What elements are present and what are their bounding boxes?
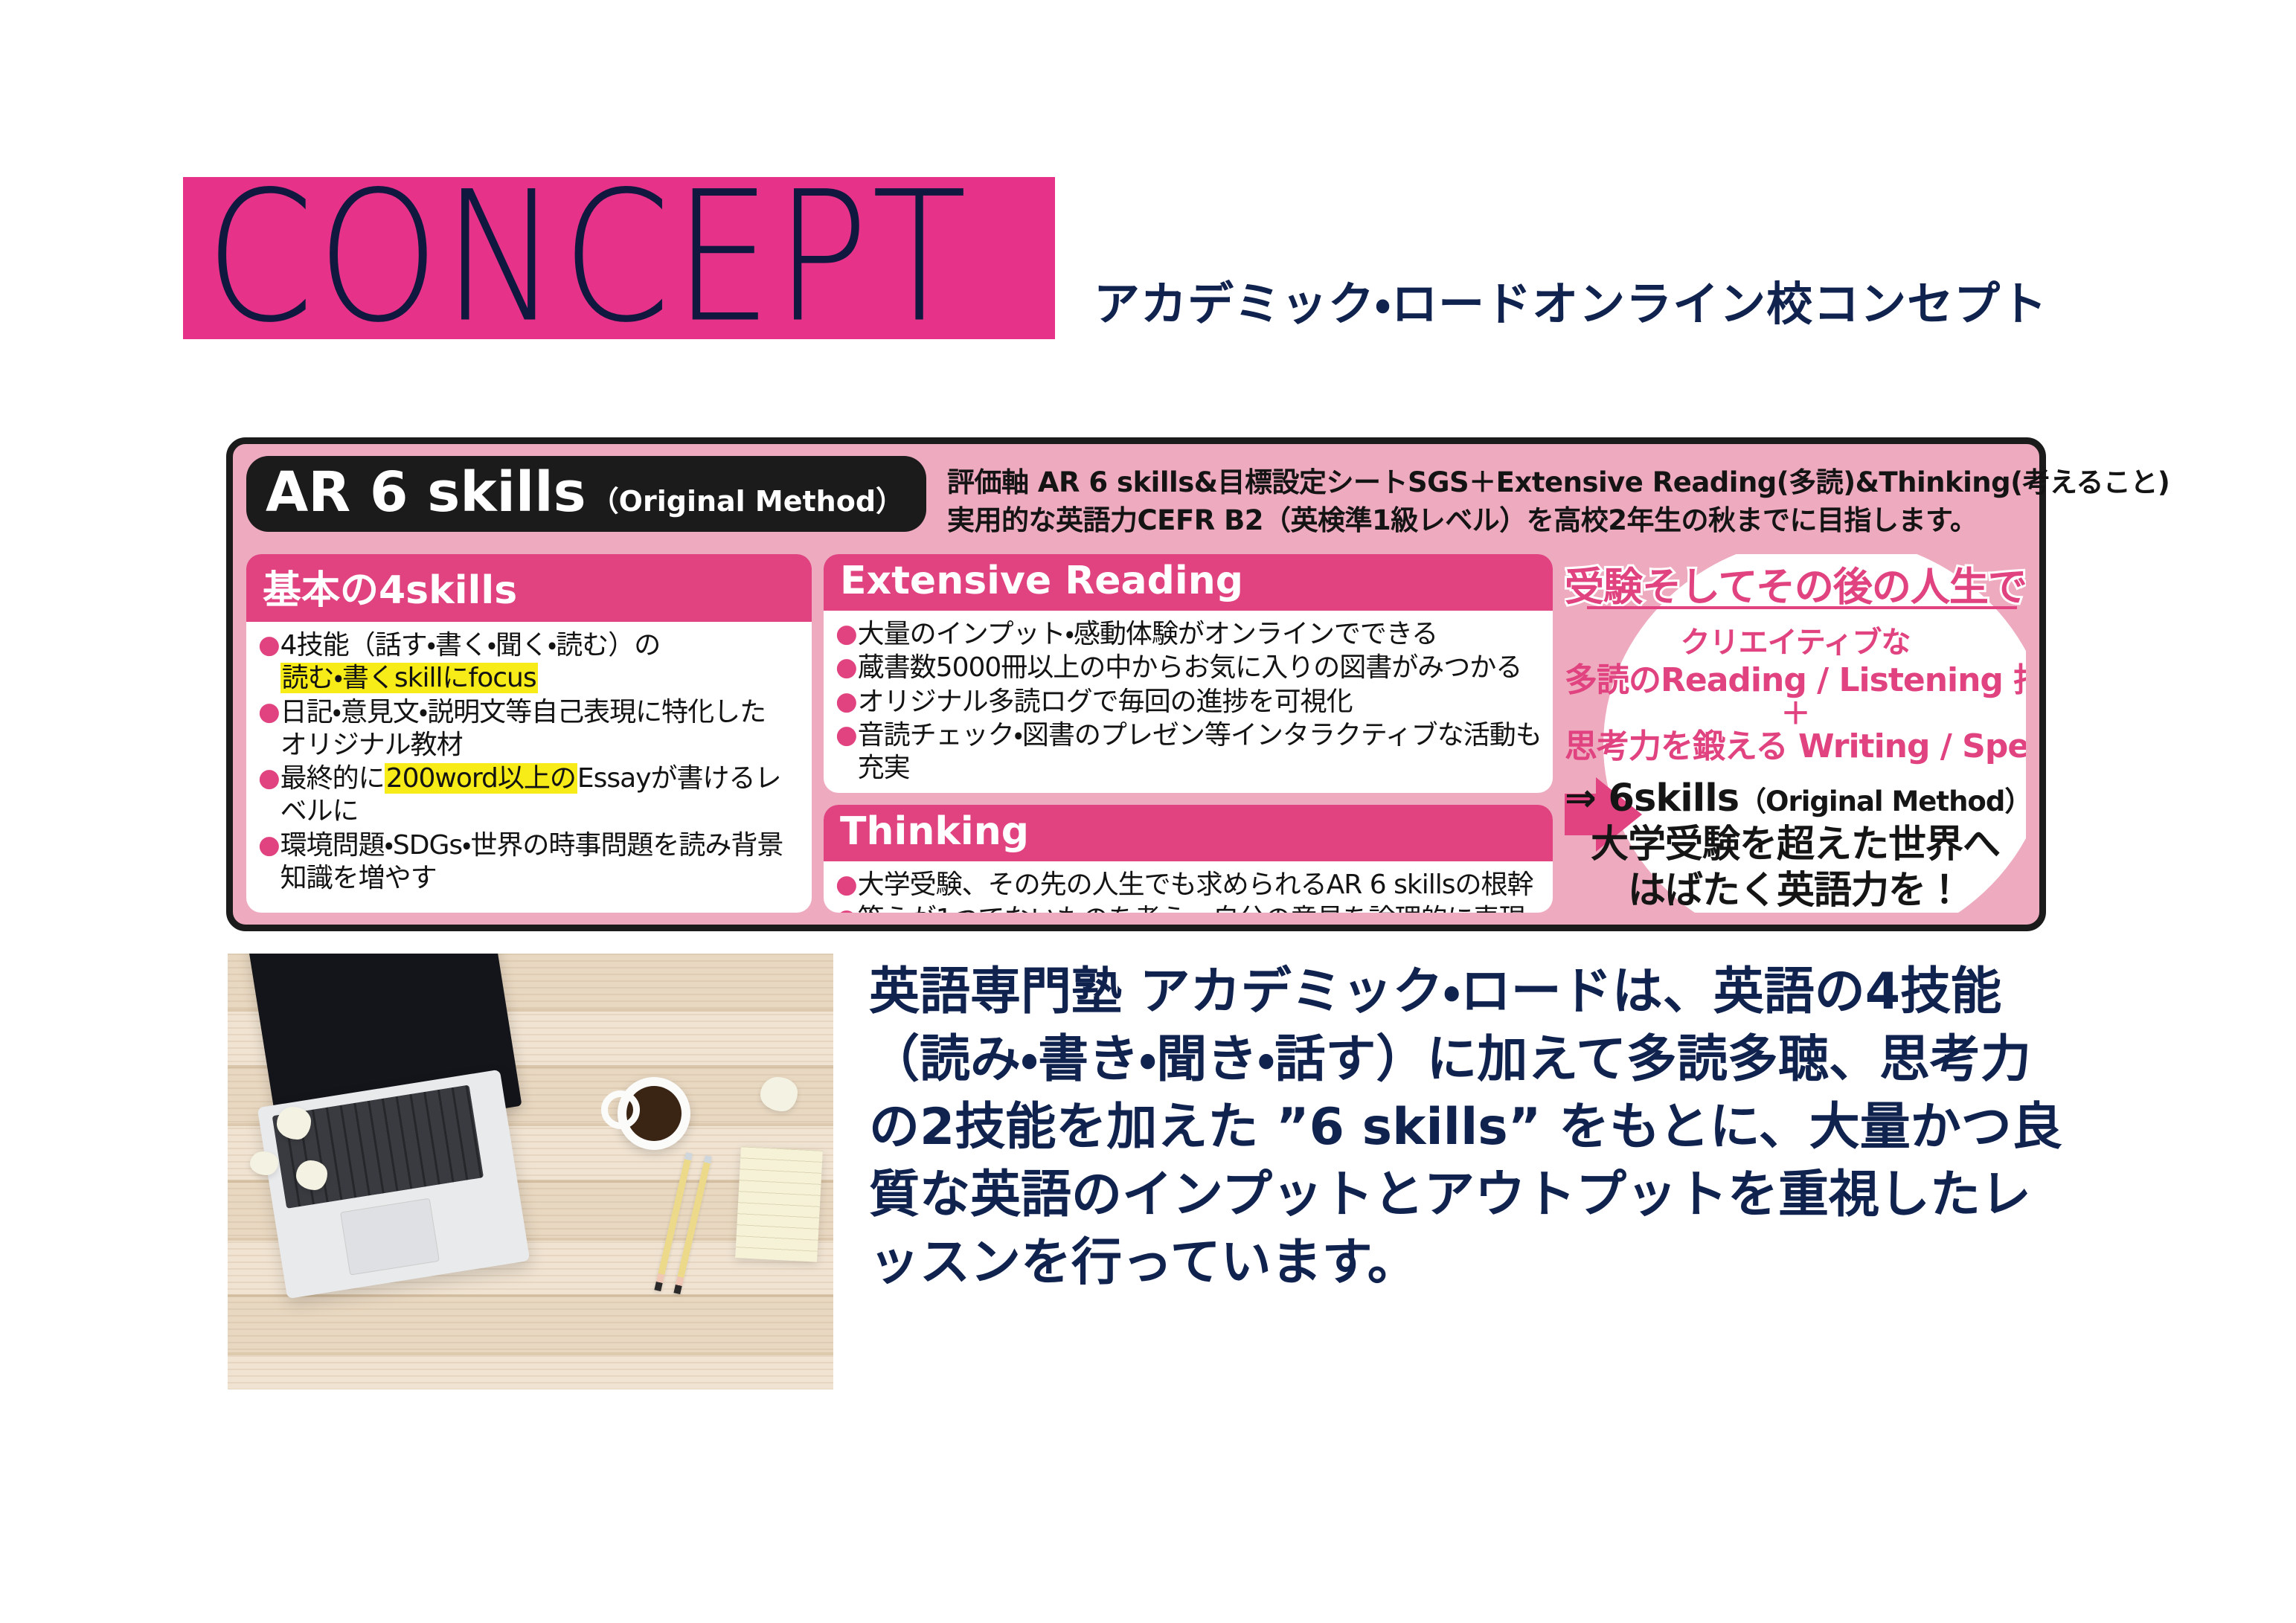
list-item: ● 日記・意見文・説明文等自己表現に特化した オリジナル教材 xyxy=(258,696,801,762)
card-thinking: Thinking ● 大学受験、その先の人生でも求められるAR 6 skills… xyxy=(824,805,1553,913)
list-item: ● 4技能（話す・書く・聞く・読む）の 読む・書くskillにfocus xyxy=(258,629,801,695)
list-item: ● 最終的に200word以上のEssayが書けるレベルに xyxy=(258,762,801,829)
list-item: ● 音読チェック・図書のプレゼン等インタラクティブな活動も充実 xyxy=(836,719,1542,785)
outcome-banner-underline xyxy=(1587,606,2017,609)
crumpled-paper xyxy=(760,1077,798,1111)
bullet-dot-icon: ● xyxy=(258,762,280,794)
notepad xyxy=(735,1146,823,1262)
page-subtitle: アカデミック・ロードオンライン校コンセプト xyxy=(1094,266,2048,333)
list-item-text: 日記・意見文・説明文等自己表現に特化した オリジナル教材 xyxy=(280,696,766,762)
bullet-dot-icon: ● xyxy=(836,903,857,913)
bullet-dot-icon: ● xyxy=(836,719,857,751)
list-item: ● 大学受験、その先の人生でも求められるAR 6 skillsの根幹 xyxy=(836,869,1542,902)
outcome-line-6: はばたく英語力を！ xyxy=(1565,859,2026,913)
list-item-text: 環境問題・SDGs・世界の時事問題を読み背景知識を増やす xyxy=(280,829,801,896)
bullet-highlight: 読む・書くskillにfocus xyxy=(280,663,538,693)
ar-6-skills-badge: AR 6 skills （Original Method） xyxy=(246,456,926,532)
ar-badge-title: AR 6 skills xyxy=(266,460,586,524)
ar-panel-header: AR 6 skills （Original Method） 評価軸 AR 6 s… xyxy=(246,456,2170,539)
card-body-basic-4skills: ● 4技能（話す・書く・聞く・読む）の 読む・書くskillにfocus ● 日… xyxy=(246,622,812,913)
card-extensive-reading: Extensive Reading ● 大量のインプット・感動体験がオンラインで… xyxy=(824,554,1553,793)
laptop-keyboard xyxy=(272,1084,484,1208)
card-column-middle: Extensive Reading ● 大量のインプット・感動体験がオンラインで… xyxy=(824,554,1553,913)
laptop-base xyxy=(257,1070,530,1299)
list-item: ● 大量のインプット・感動体験がオンラインでできる xyxy=(836,618,1542,651)
card-body-thinking: ● 大学受験、その先の人生でも求められるAR 6 skillsの根幹 ● 答えが… xyxy=(824,861,1553,913)
card-title-thinking: Thinking xyxy=(824,805,1553,861)
bullet-dot-icon: ● xyxy=(836,869,857,901)
card-body-extensive-reading: ● 大量のインプット・感動体験がオンラインでできる ● 蔵書数5000冊以上の中… xyxy=(824,611,1553,793)
ar-panel-description: 評価軸 AR 6 skills&目標設定シートSGS＋Extensive Rea… xyxy=(947,463,2170,539)
ar-6-skills-panel: AR 6 skills （Original Method） 評価軸 AR 6 s… xyxy=(226,437,2046,931)
ar-description-line-2: 実用的な英語力CEFR B2（英検準1級レベル）を高校2年生の秋までに目指します… xyxy=(947,501,2170,539)
concept-title-band: CONCEPT xyxy=(183,177,1055,339)
bullet-dot-icon: ● xyxy=(836,652,857,684)
page-title: CONCEPT xyxy=(205,168,970,348)
cup-handle xyxy=(601,1090,640,1129)
bullet-post: オリジナル教材 xyxy=(280,730,463,760)
crumpled-paper xyxy=(277,1107,311,1140)
list-item-text: 大量のインプット・感動体験がオンラインでできる xyxy=(858,618,1437,651)
crumpled-paper xyxy=(296,1160,327,1190)
outcome-banner: 受験そしてその後の人生で xyxy=(1565,556,2026,612)
bullet-dot-icon: ● xyxy=(258,696,280,728)
pencil xyxy=(654,1152,693,1291)
list-item-text: 大学受験、その先の人生でも求められるAR 6 skillsの根幹 xyxy=(858,869,1533,902)
outcome-line-3: 思考力を鍛える Writing / Speaking xyxy=(1565,719,2026,767)
list-item-text: 4技能（話す・書く・聞く・読む）の 読む・書くskillにfocus xyxy=(280,629,661,695)
bullet-dot-icon: ● xyxy=(836,618,857,650)
bullet-dot-icon: ● xyxy=(258,829,280,861)
bullet-dot-icon: ● xyxy=(836,686,857,718)
coffee-cup xyxy=(618,1077,690,1150)
list-item: ● オリジナル多読ログで毎回の進捗を可視化 xyxy=(836,686,1542,719)
intro-paragraph: 英語専門塾 アカデミック・ロードは、英語の4技能（読み・書き・聞き・話す）に加え… xyxy=(869,958,2067,1297)
card-basic-4skills: 基本の4skills ● 4技能（話す・書く・聞く・読む）の 読む・書くskil… xyxy=(246,554,812,913)
list-item: ● 答えが1つでないものを考え、自分の意見を論理的に表現できる力 xyxy=(836,903,1542,913)
laptop-trackpad xyxy=(340,1198,440,1276)
bullet-dot-icon: ● xyxy=(258,629,280,661)
desk-photo xyxy=(228,954,833,1389)
list-item: ● 環境問題・SDGs・世界の時事問題を読み背景知識を増やす xyxy=(258,829,801,896)
list-item-text: 音読チェック・図書のプレゼン等インタラクティブな活動も充実 xyxy=(858,719,1542,785)
list-item-text: オリジナル多読ログで毎回の進捗を可視化 xyxy=(858,686,1353,719)
list-item: ● 蔵書数5000冊以上の中からお気に入りの図書がみつかる xyxy=(836,652,1542,684)
ar-badge-subtitle: （Original Method） xyxy=(591,478,904,519)
bullet-pre: 最終的に xyxy=(280,763,385,794)
bullet-pre: 日記・意見文・説明文等自己表現に特化した xyxy=(280,697,766,727)
ar-description-line-1: 評価軸 AR 6 skills&目標設定シートSGS＋Extensive Rea… xyxy=(947,463,2170,501)
list-item-text: 蔵書数5000冊以上の中からお気に入りの図書がみつかる xyxy=(858,652,1522,684)
outcome-inner: 受験そしてその後の人生で クリエイティブな 多読のReading / Liste… xyxy=(1565,554,2026,913)
page-title-block: CONCEPT xyxy=(183,177,1055,339)
list-item-text: 答えが1つでないものを考え、自分の意見を論理的に表現できる力 xyxy=(858,903,1542,913)
pencil xyxy=(673,1155,712,1294)
card-title-basic-4skills: 基本の4skills xyxy=(246,554,812,622)
bullet-pre: 4技能（話す・書く・聞く・読む）の xyxy=(280,630,661,661)
crumpled-paper xyxy=(250,1151,278,1175)
list-item-text: 最終的に200word以上のEssayが書けるレベルに xyxy=(280,762,801,829)
card-outcome: 受験そしてその後の人生で クリエイティブな 多読のReading / Liste… xyxy=(1565,554,2026,913)
bullet-highlight: 200word以上の xyxy=(385,763,577,794)
ar-panel-columns: 基本の4skills ● 4技能（話す・書く・聞く・読む）の 読む・書くskil… xyxy=(246,554,2026,913)
card-title-extensive-reading: Extensive Reading xyxy=(824,554,1553,611)
